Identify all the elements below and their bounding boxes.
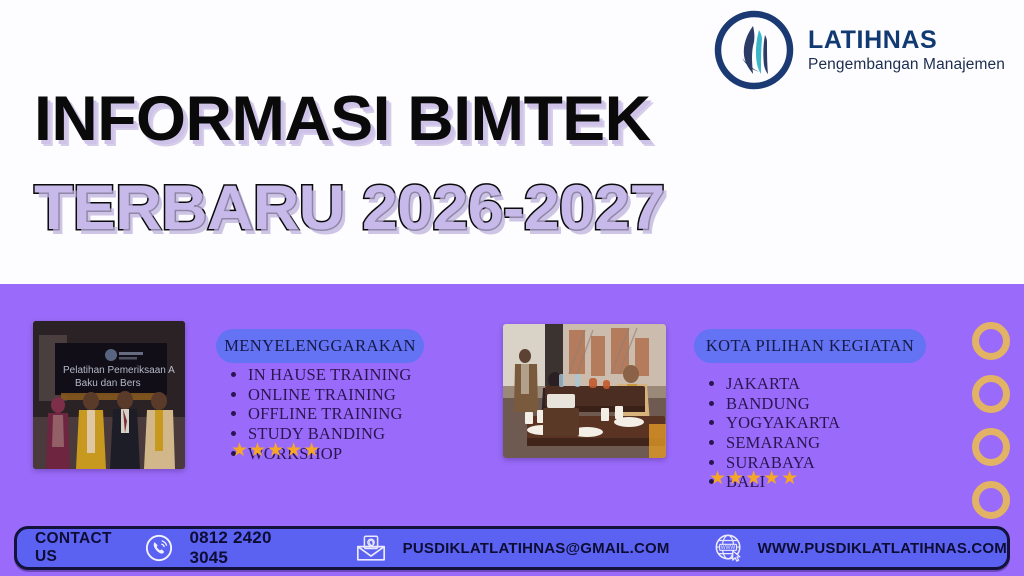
meeting-room-photo (503, 324, 666, 458)
brand-tagline: Pengembangan Manajemen (808, 57, 1005, 73)
website-url[interactable]: WWW.PUSDIKLATLATIHNAS.COM (758, 540, 1007, 557)
phone-ring-icon (145, 534, 173, 562)
left-rating-stars: ★★★★★ (231, 441, 321, 460)
list-item: OFFLINE TRAINING (248, 404, 412, 424)
contact-us-label: CONTACT US (35, 530, 131, 566)
list-item: IN HAUSE TRAINING (248, 365, 412, 385)
decorative-ring-icon (972, 322, 1010, 360)
page-title: INFORMASI BIMTEK TERBARU 2026-2027 (34, 88, 854, 240)
headline-line-1: INFORMASI BIMTEK (34, 88, 870, 151)
globe-www-icon: WWW (714, 533, 744, 563)
list-item: JAKARTA (726, 374, 840, 394)
decorative-ring-icon (972, 481, 1010, 519)
left-section-heading: MENYELENGGARAKAN (216, 329, 424, 363)
list-item: SEMARANG (726, 433, 840, 453)
training-group-photo: Pelatihan Pemeriksaan A Baku dan Bers (33, 321, 185, 469)
right-section-heading: KOTA PILIHAN KEGIATAN (694, 329, 926, 363)
contact-bar: CONTACT US 0812 2420 3045 PUSDIKLATLATIH… (14, 526, 1010, 570)
svg-text:WWW: WWW (720, 545, 735, 551)
poster-canvas: LATIHNAS Pengembangan Manajemen INFORMAS… (0, 0, 1024, 576)
right-heading-label: KOTA PILIHAN KEGIATAN (706, 336, 914, 356)
envelope-at-icon (355, 535, 387, 562)
svg-text:Pelatihan Pemeriksaan A: Pelatihan Pemeriksaan A (63, 365, 175, 376)
email-address[interactable]: PUSDIKLATLATIHNAS@GMAIL.COM (403, 540, 670, 557)
list-item: ONLINE TRAINING (248, 385, 412, 405)
left-heading-label: MENYELENGGARAKAN (224, 336, 416, 356)
list-item: BANDUNG (726, 394, 840, 414)
header-band: LATIHNAS Pengembangan Manajemen INFORMAS… (0, 0, 1024, 284)
list-item: YOGYAKARTA (726, 413, 840, 433)
decorative-ring-icon (972, 428, 1010, 466)
headline-line-2: TERBARU 2026-2027 (34, 177, 870, 240)
latihnas-flame-logo-icon (712, 8, 796, 92)
brand-logo: LATIHNAS Pengembangan Manajemen (712, 8, 1005, 92)
svg-text:Baku dan Bers: Baku dan Bers (75, 378, 141, 389)
brand-name: LATIHNAS (808, 28, 1005, 53)
phone-number[interactable]: 0812 2420 3045 (189, 528, 306, 568)
decorative-ring-icon (972, 375, 1010, 413)
right-rating-stars: ★★★★★ (709, 469, 799, 488)
